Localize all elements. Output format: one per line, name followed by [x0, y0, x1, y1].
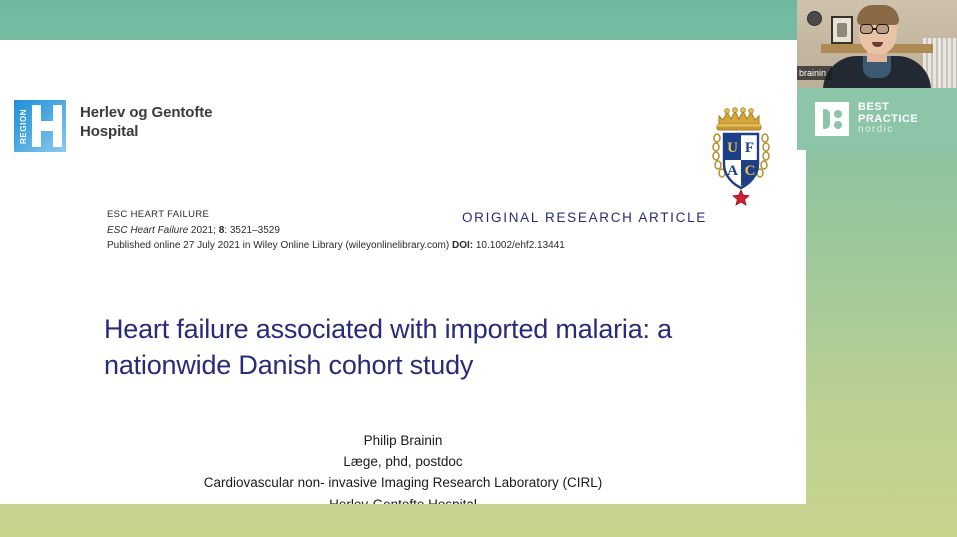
article-type-label: ORIGINAL RESEARCH ARTICLE	[462, 210, 707, 225]
person-hair	[857, 5, 899, 25]
presenter-institution: Herlev-Gentofte Hospital	[103, 494, 703, 504]
citation-pages: : 3521–3529	[224, 225, 280, 236]
framed-picture-decor	[831, 16, 853, 44]
glasses-left-lens-icon	[860, 24, 873, 34]
video-conference-screen: REGION Herlev og Gentofte Hospital	[0, 0, 957, 537]
citation-year: 2021;	[188, 225, 219, 236]
shared-presentation-slide[interactable]: REGION Herlev og Gentofte Hospital	[0, 40, 806, 504]
presenter-credentials: Læge, phd, postdoc	[103, 451, 703, 472]
hospital-name-line2: Hospital	[80, 122, 212, 141]
journal-header: ESC HEART FAILURE ORIGINAL RESEARCH ARTI…	[107, 208, 707, 254]
sponsor-line-nordic: nordic	[858, 125, 918, 136]
participant-video-tile[interactable]: brainin	[797, 0, 957, 88]
journal-citation: ESC Heart Failure 2021; 8: 3521–3529	[107, 223, 707, 239]
slide-title: Heart failure associated with imported m…	[104, 312, 744, 383]
region-label: REGION	[17, 104, 30, 148]
svg-text:U: U	[727, 140, 738, 156]
wall-clock-decor	[807, 11, 822, 26]
svg-text:A: A	[727, 163, 738, 179]
presenter-name: Philip Brainin	[103, 430, 703, 451]
doi-value: 10.1002/ehf2.13441	[473, 240, 565, 251]
region-h-mark-icon: REGION	[14, 100, 66, 152]
letter-h-icon	[32, 105, 62, 147]
glasses-right-lens-icon	[876, 24, 889, 34]
hospital-name-line1: Herlev og Gentofte	[80, 103, 212, 122]
best-practice-nordic-mark-icon	[815, 102, 849, 136]
glasses-bridge-icon	[873, 28, 876, 30]
ufac-coat-of-arms-icon: U F A C	[705, 102, 777, 207]
presenter-lab: Cardiovascular non- invasive Imaging Res…	[103, 472, 703, 493]
sponsor-wordmark: BEST PRACTICE nordic	[858, 102, 918, 137]
participant-name-label: brainin	[797, 66, 832, 80]
sponsor-logo-best-practice-nordic: BEST PRACTICE nordic	[797, 88, 957, 150]
hospital-name: Herlev og Gentofte Hospital	[80, 100, 212, 141]
published-online-text: Published online 27 July 2021 in Wiley O…	[107, 240, 452, 251]
presenter-block: Philip Brainin Læge, phd, postdoc Cardio…	[103, 430, 703, 504]
doi-label: DOI:	[452, 240, 473, 251]
svg-text:C: C	[745, 163, 756, 179]
sponsor-line-best: BEST	[858, 102, 918, 114]
herlev-gentofte-hospital-logo: REGION Herlev og Gentofte Hospital	[14, 100, 212, 152]
publication-line: Published online 27 July 2021 in Wiley O…	[107, 238, 707, 254]
citation-journal-italic: ESC Heart Failure	[107, 225, 188, 236]
svg-text:F: F	[745, 140, 754, 156]
